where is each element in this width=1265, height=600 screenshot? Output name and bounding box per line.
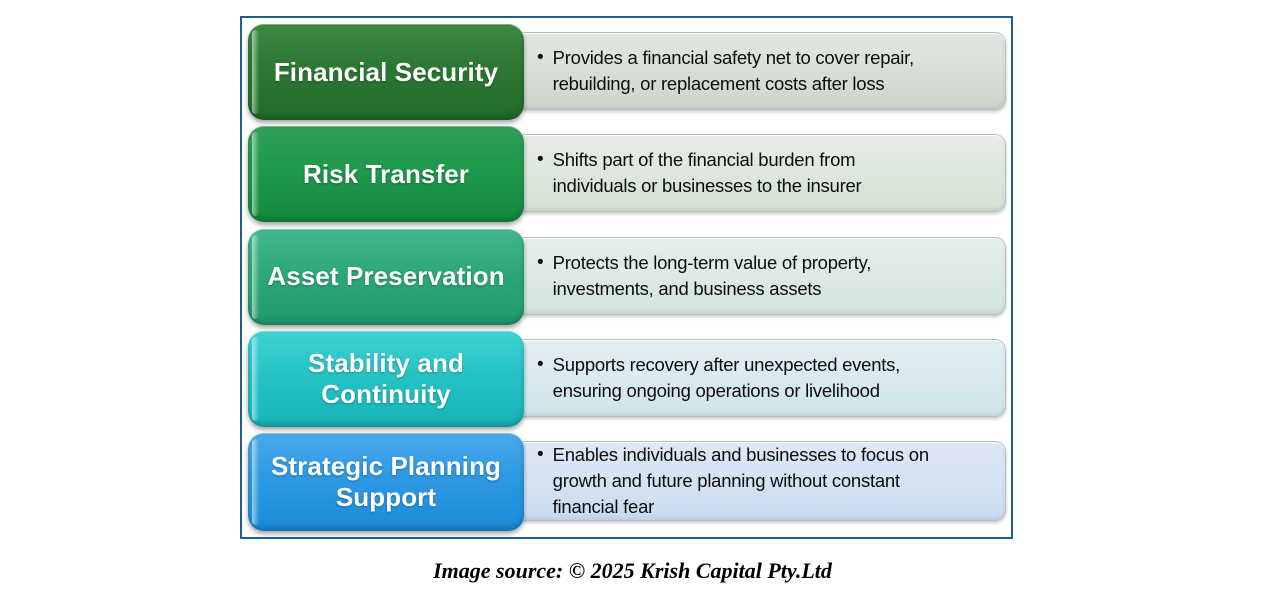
diagram-row: Strategic Planning Support • Enables ind… (248, 433, 1006, 531)
bullet-icon: • (537, 442, 544, 469)
benefit-label-text: Stability and Continuity (260, 348, 512, 409)
bullet-line: • Enables individuals and businesses to … (537, 442, 929, 520)
image-source-caption: Image source: © 2025 Krish Capital Pty.L… (0, 558, 1265, 584)
diagram-row: Stability and Continuity • Supports reco… (248, 331, 1006, 427)
benefit-description-text: Provides a financial safety net to cover… (553, 45, 914, 97)
screenshot-canvas: Financial Security • Provides a financia… (0, 0, 1265, 600)
benefit-description-card: • Supports recovery after unexpected eve… (514, 339, 1006, 417)
bullet-line: • Protects the long-term value of proper… (537, 250, 871, 302)
benefit-description-text: Shifts part of the financial burden from… (553, 147, 862, 199)
benefit-label-text: Risk Transfer (303, 159, 469, 190)
bullet-line: • Shifts part of the financial burden fr… (537, 147, 861, 199)
benefit-label-text: Asset Preservation (267, 261, 504, 292)
benefit-description-text: Protects the long-term value of property… (553, 250, 871, 302)
bullet-icon: • (537, 250, 544, 277)
benefit-description-card: • Enables individuals and businesses to … (514, 441, 1006, 521)
bullet-icon: • (537, 352, 544, 379)
diagram-row: Risk Transfer • Shifts part of the finan… (248, 126, 1006, 222)
bullet-line: • Provides a financial safety net to cov… (537, 45, 914, 97)
benefit-description-card: • Protects the long-term value of proper… (514, 237, 1006, 315)
bullet-icon: • (537, 147, 544, 174)
benefit-description-card: • Shifts part of the financial burden fr… (514, 134, 1006, 212)
diagram-row: Financial Security • Provides a financia… (248, 24, 1006, 120)
benefit-label-risk-transfer[interactable]: Risk Transfer (248, 126, 524, 222)
diagram-row: Asset Preservation • Protects the long-t… (248, 229, 1006, 325)
benefit-label-stability-and-continuity[interactable]: Stability and Continuity (248, 331, 524, 427)
benefit-label-text: Strategic Planning Support (260, 451, 512, 512)
benefits-diagram-frame: Financial Security • Provides a financia… (240, 16, 1013, 539)
bullet-line: • Supports recovery after unexpected eve… (537, 352, 900, 404)
bullet-icon: • (537, 45, 544, 72)
benefit-label-strategic-planning-support[interactable]: Strategic Planning Support (248, 433, 524, 531)
benefit-label-financial-security[interactable]: Financial Security (248, 24, 524, 120)
benefit-label-asset-preservation[interactable]: Asset Preservation (248, 229, 524, 325)
benefit-description-text: Supports recovery after unexpected event… (553, 352, 900, 404)
benefit-description-card: • Provides a financial safety net to cov… (514, 32, 1006, 110)
benefit-label-text: Financial Security (274, 57, 498, 88)
benefit-description-text: Enables individuals and businesses to fo… (553, 442, 929, 520)
